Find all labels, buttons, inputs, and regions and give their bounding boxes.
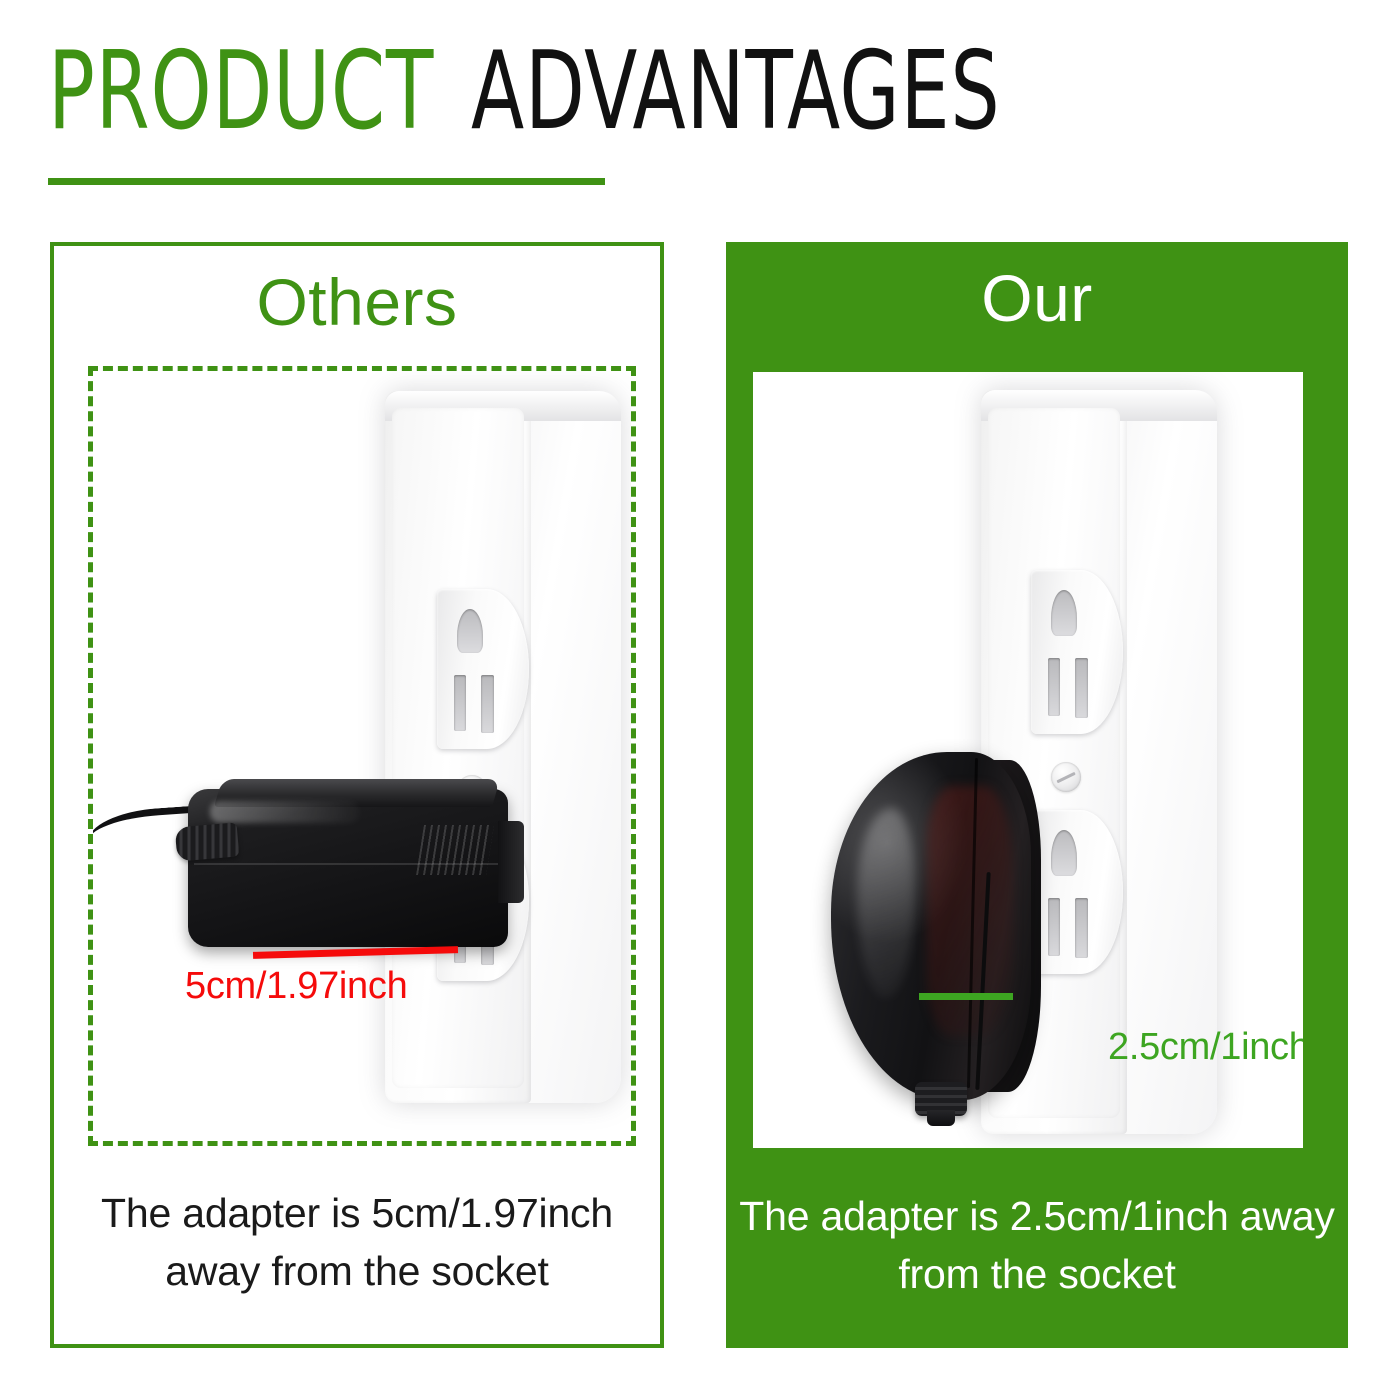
adapter-strain-relief-tip-our	[927, 1110, 955, 1126]
measurement-line-our	[919, 993, 1013, 1000]
outlet-receptacle-upper	[437, 589, 529, 749]
page-header: PRODUCTADVANTAGES	[48, 38, 1368, 188]
outlet-slot-neutral-upper	[454, 675, 466, 731]
measurement-label-our: 2.5cm/1inch	[1108, 1026, 1303, 1069]
wall-outlet-others	[385, 391, 621, 1103]
outlet-receptacle-upper	[1031, 570, 1123, 734]
outlet-slot-hot-lower	[1075, 898, 1088, 958]
product-photo-others: 5cm/1.97inch	[88, 366, 636, 1146]
title-underline-rule	[48, 178, 605, 185]
page-title-primary: PRODUCT	[48, 38, 434, 146]
adapter-strain-relief-others	[175, 822, 240, 861]
outlet-slot-neutral-upper	[1048, 658, 1060, 716]
outlet-slot-hot-upper	[1075, 658, 1088, 718]
panel-heading-others: Others	[54, 268, 660, 337]
panel-heading-our: Our	[726, 264, 1348, 333]
page-title: PRODUCTADVANTAGES	[48, 38, 1133, 146]
measurement-label-others: 5cm/1.97inch	[185, 965, 407, 1008]
outlet-ground-hole-upper	[1051, 590, 1077, 636]
comparison-panel-our: Our	[726, 242, 1348, 1348]
comparison-panel-others: Others	[50, 242, 664, 1348]
adapter-vent-slots-others	[416, 825, 494, 875]
adapter-prong-base-others	[498, 821, 524, 903]
panel-caption-others: The adapter is 5cm/1.97inch away from th…	[54, 1184, 660, 1300]
adapter-highlight-others	[210, 801, 360, 823]
product-photo-our: 2.5cm/1inch	[753, 372, 1303, 1148]
power-adapter-slim	[831, 752, 1057, 1124]
outlet-slot-hot-upper	[481, 675, 494, 733]
panel-caption-our: The adapter is 2.5cm/1inch away from the…	[726, 1187, 1348, 1303]
outlet-ground-hole-upper	[457, 609, 483, 653]
page-title-secondary: ADVANTAGES	[471, 38, 1001, 146]
power-adapter-bulky	[188, 779, 508, 951]
